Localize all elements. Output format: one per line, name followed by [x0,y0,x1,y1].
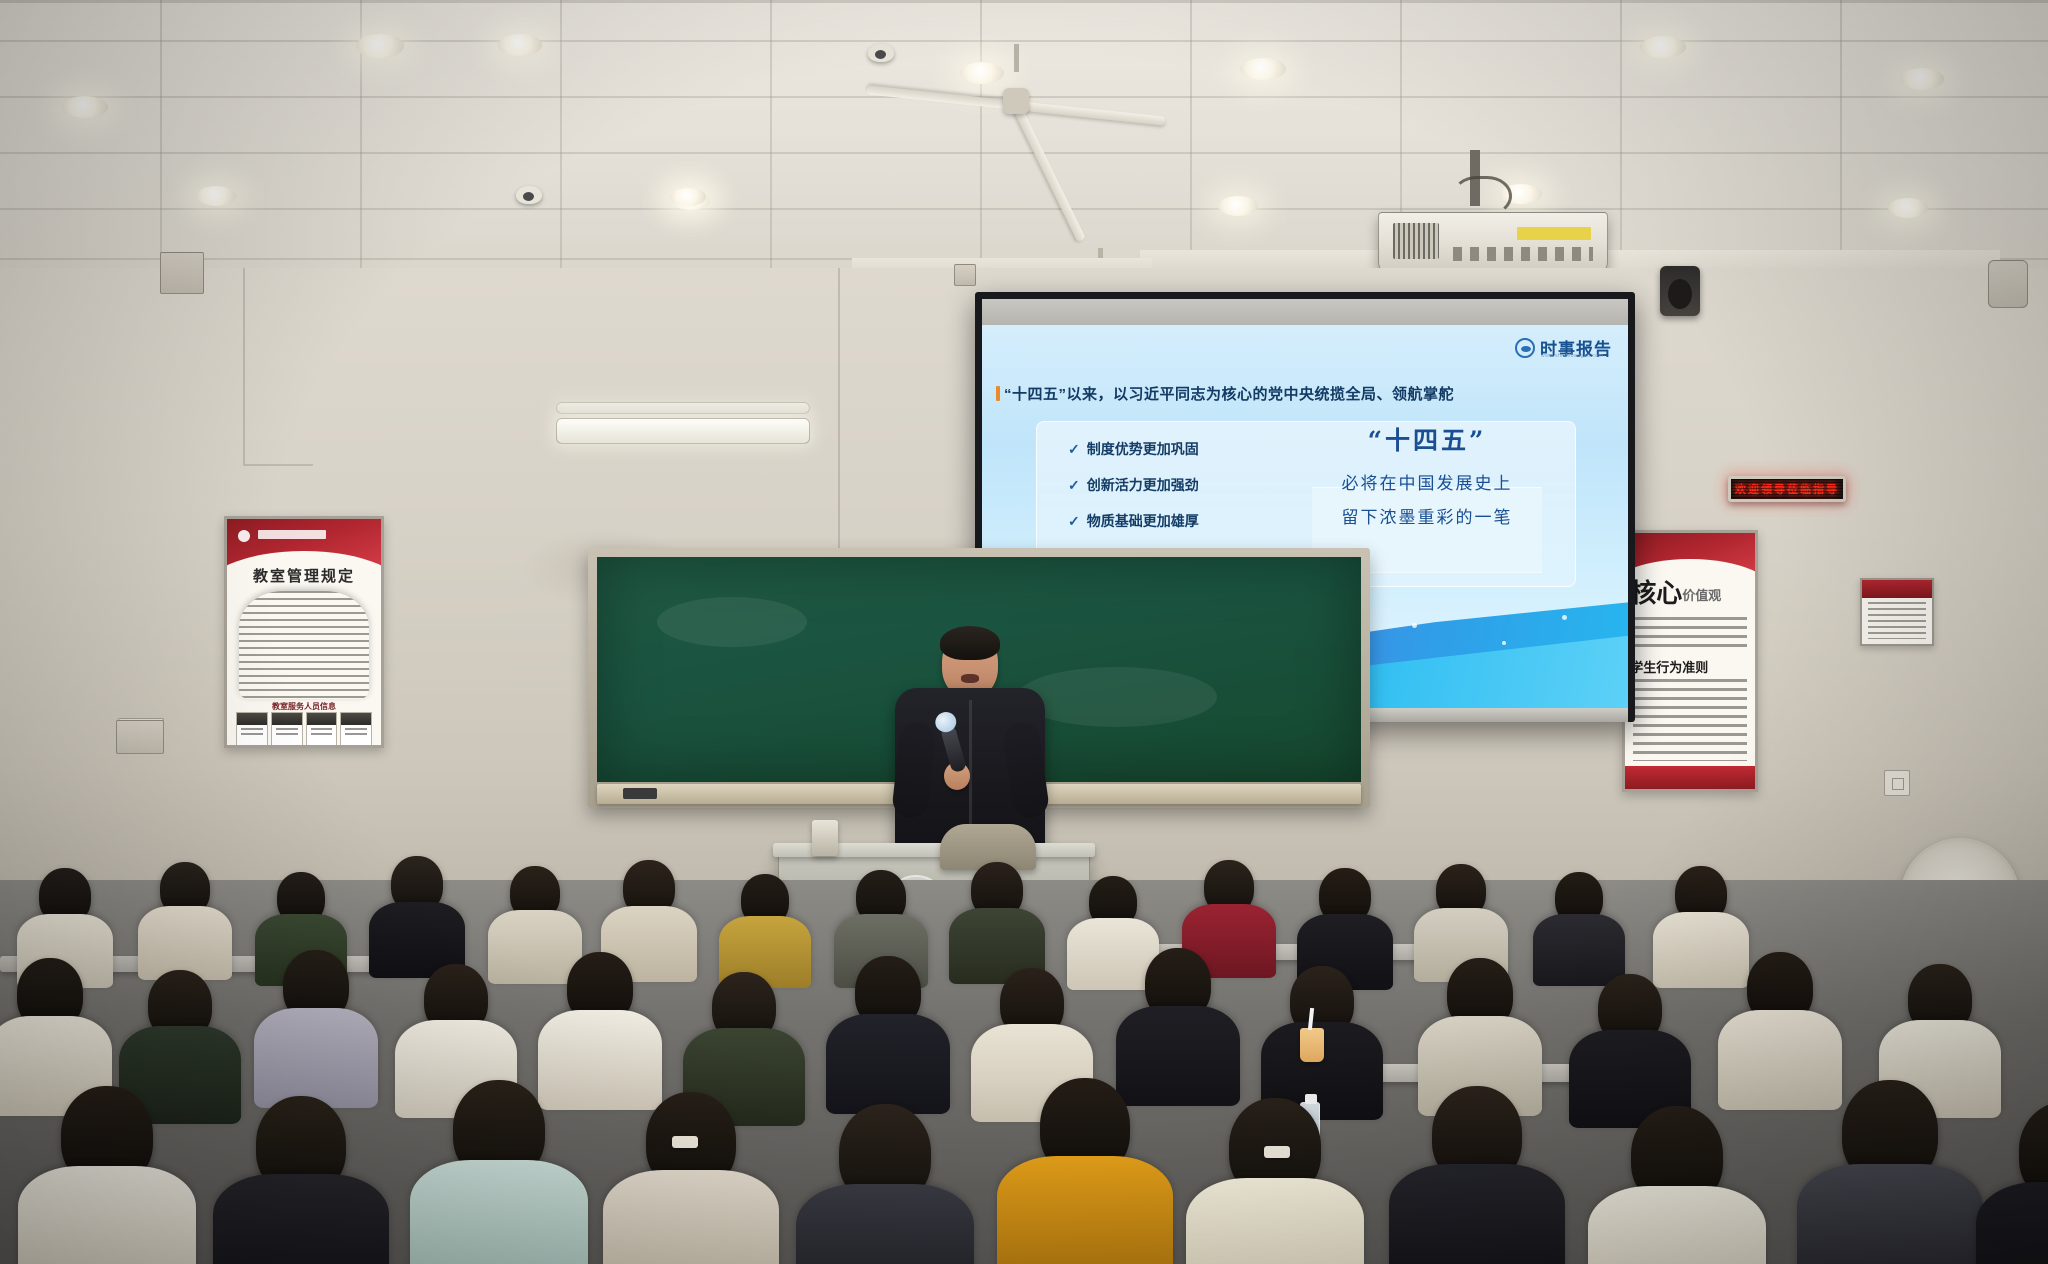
paper-cup [1300,1028,1324,1062]
person-jacket [796,1184,974,1264]
wall-fluorescent-tube [556,418,810,444]
wall-junction-box [160,252,204,294]
audience-person [1392,1086,1562,1264]
ceiling-light [1240,58,1286,80]
thermos-cup [812,820,838,856]
projector [1378,212,1608,276]
speaker-mouth [961,674,979,683]
poster-title: 教室管理规定 [227,565,381,586]
slide-dot [1562,615,1567,620]
person-jacket [1186,1178,1364,1264]
fan-hub [1003,88,1029,114]
poster-staff-card [236,712,268,746]
staff-name [241,728,263,738]
audience-person [952,862,1042,982]
wall-seam [243,464,313,466]
slide-title: “十四五”以来，以习近平同志为核心的党中央统揽全局、领航掌舵 [996,383,1454,404]
person-jacket [410,1160,588,1264]
audience-person [1980,1102,2048,1264]
projector-grille [1393,223,1439,259]
person-jacket [18,1166,196,1264]
fan-blade [866,85,1016,110]
poster-core-values: 核心 价值观 学生行为准则 [1622,530,1758,792]
poster-staff-card [306,712,338,746]
ceiling-light [1888,198,1928,218]
ceiling [0,0,2048,300]
poster-footer-band [1625,766,1755,789]
wall-box [954,264,976,286]
projector-ports [1453,247,1593,261]
audience-person [256,950,376,1110]
staff-photo [272,713,302,725]
audience-area [0,880,2048,1264]
person-jacket [1976,1182,2048,1264]
check-icon: ✓ [1068,467,1080,503]
audience-person [372,856,462,976]
chalk-smudge [657,597,807,647]
eye-icon [1515,338,1535,358]
slide-brand-logo: 时事报告 www.shishibaogao.com [1515,335,1612,360]
person-jacket [213,1174,389,1264]
person-jacket [254,1008,378,1108]
audience-person [140,862,230,982]
slide-dot [1502,641,1506,645]
person-jacket [138,906,232,980]
person-jacket [826,1014,950,1114]
ceiling-light [62,96,108,118]
list-item: ✓物质基础更加雄厚 [1068,503,1199,539]
fan-blade [1016,101,1166,126]
list-item: ✓制度优势更加巩固 [1068,431,1199,467]
person-jacket [1389,1164,1565,1264]
poster-staff-cards [236,712,372,746]
wall-seam [838,268,840,568]
ceiling-light [1900,68,1944,90]
wall-seam [243,268,245,464]
staff-photo [237,713,267,725]
audience-person [216,1096,386,1264]
audience-person [414,1080,584,1264]
audience-person [1800,1080,1980,1264]
bullet-text: 创新活力更加强劲 [1087,467,1199,503]
ceiling-light [498,34,542,56]
wall-electrical-panel [116,720,164,754]
audience-person [828,956,948,1116]
calligraphy-line-1: “十四五” [1302,421,1552,457]
slide-title-text: “十四五”以来，以习近平同志为核心的党中央统揽全局、领航掌舵 [1004,386,1454,403]
ceiling-light [356,34,404,58]
check-icon: ✓ [1068,503,1080,539]
staff-name [311,728,333,738]
staff-photo [341,713,371,725]
projector-cables [1452,176,1512,216]
wall-box [1988,260,2028,308]
university-logo-icon [238,530,250,542]
person-jacket [997,1156,1173,1264]
poster-staff-card [271,712,303,746]
poster-org-name [258,530,326,539]
bullet-text: 制度优势更加巩固 [1087,431,1199,467]
ceiling-fan [886,66,1146,136]
poster-classroom-rules: 教室管理规定 教室服务人员信息 [224,516,384,748]
calligraphy-line-3: 留下浓墨重彩的一笔 [1302,503,1552,528]
led-marquee-display: 欢迎领导莅临指导 [1728,476,1846,502]
mini-sign-body [1868,602,1927,639]
led-marquee-text: 欢迎领导莅临指导 [1735,481,1839,497]
staff-name [276,728,298,738]
audience-person [1190,1098,1360,1264]
check-icon: ✓ [1068,431,1080,467]
poster-staff-card [340,712,372,746]
wall-speaker [1660,266,1700,316]
poster-subtitle: 教室服务人员信息 [227,701,381,712]
person-jacket [1588,1186,1766,1264]
mini-sign-header [1862,580,1932,598]
calligraphy-line-2: 必将在中国发展史上 [1302,469,1552,494]
poster-values-list [1633,617,1747,651]
bullet-text: 物质基础更加雄厚 [1087,503,1199,539]
poster-values-subtitle: 价值观 [1682,585,1750,604]
person-jacket [1797,1164,1983,1264]
person-jacket [603,1170,779,1264]
poster-section2-title: 学生行为准则 [1630,657,1750,676]
audience-person [800,1104,970,1264]
audience-person [1592,1106,1762,1264]
audience-person [606,1092,776,1264]
screen-top-strip [982,299,1628,325]
blackboard-eraser [623,788,657,799]
speaker-hair [940,626,1000,660]
ceiling-light [1640,36,1686,58]
audience-person [1000,1078,1170,1264]
ceiling-camera-icon [516,186,542,204]
staff-name [345,728,367,738]
ceiling-light [670,188,706,206]
fan-rod [1014,44,1019,72]
ceiling-light [196,186,236,206]
ceiling-camera-icon [868,44,894,62]
lecture-hall-photo: 教室管理规定 教室服务人员信息 核心 价值观 学生行为准则 [0,0,2048,1264]
projector-label [1517,227,1591,240]
wall-socket-plate[interactable] [1884,770,1910,796]
hair-clip [1264,1146,1290,1158]
wall-fluorescent-tube [556,402,810,414]
slide-dot [1412,623,1417,628]
audience-person [22,1086,192,1264]
ceiling-light [1218,196,1258,216]
title-accent-bar [996,386,1000,401]
staff-photo [307,713,337,725]
slide-calligraphy: “十四五” 必将在中国发展史上 留下浓墨重彩的一笔 [1302,421,1552,528]
wall-mini-sign [1860,578,1934,646]
slide-logo-url: www.shishibaogao.com [1541,353,1603,359]
poster-conduct-body [1633,679,1747,761]
hair-clip [672,1136,698,1148]
poster-body-text [239,591,368,699]
list-item: ✓创新活力更加强劲 [1068,467,1199,503]
